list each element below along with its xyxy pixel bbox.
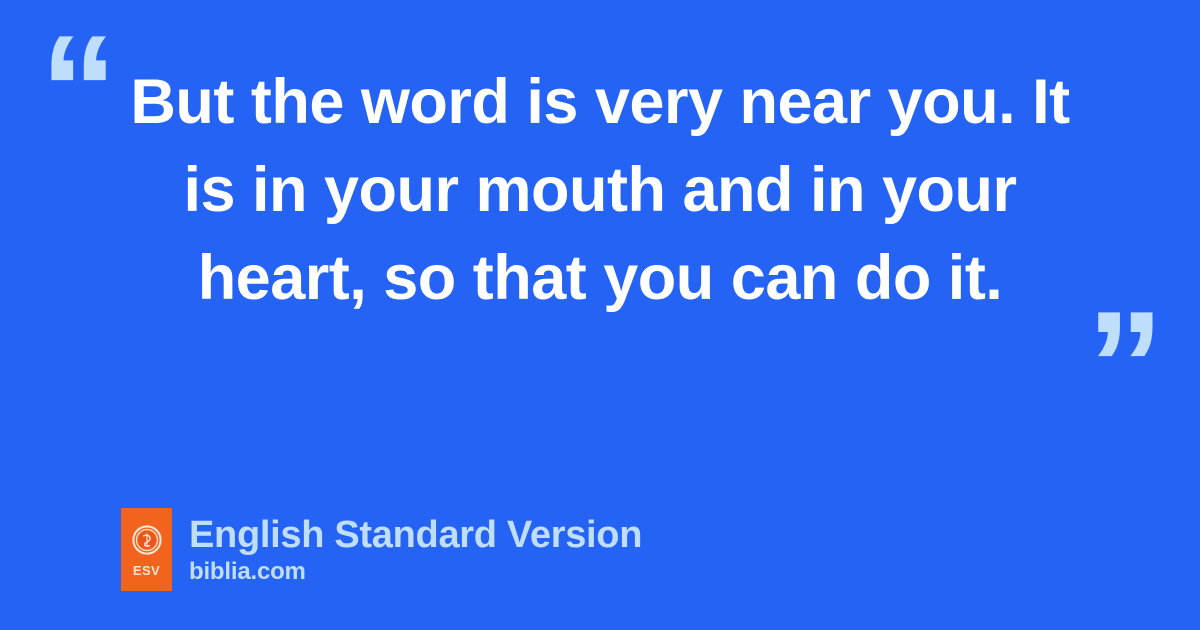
attribution-footer: ESV English Standard Version biblia.com	[121, 508, 642, 591]
verse-container: But the word is very near you. It is in …	[0, 58, 1200, 418]
close-quote-icon: ”	[1087, 288, 1163, 443]
esv-badge: ESV	[121, 508, 172, 591]
footer-text-group: English Standard Version biblia.com	[189, 513, 642, 586]
esv-badge-label: ESV	[133, 564, 160, 577]
bible-version-name: English Standard Version	[189, 513, 642, 557]
verse-text: But the word is very near you. It is in …	[110, 58, 1090, 322]
esv-seal-icon	[132, 525, 162, 555]
verse-quote-card: “ But the word is very near you. It is i…	[0, 0, 1200, 630]
site-name: biblia.com	[189, 558, 642, 586]
